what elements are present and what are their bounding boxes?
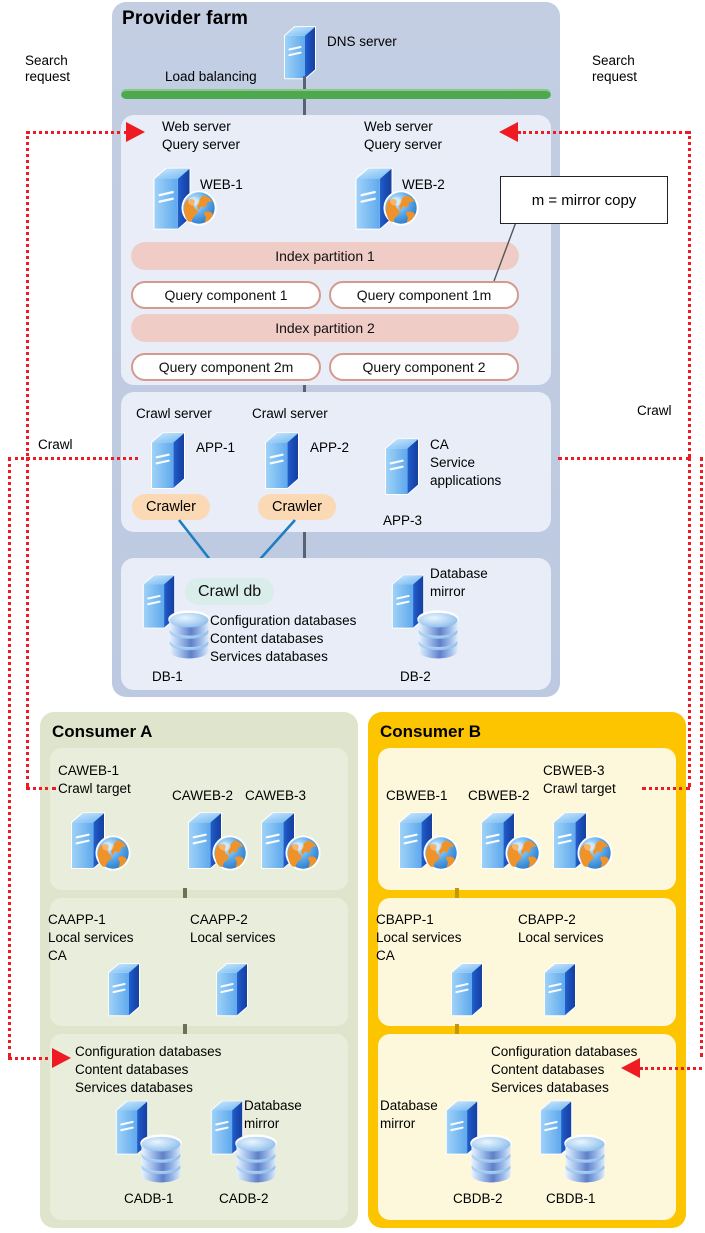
cbweb3-name: CBWEB-3 [543,763,605,779]
db1-database-line2: Content databases [210,631,323,647]
crawl-target-path-left-h [26,787,56,790]
caweb3-name: CAWEB-3 [245,788,306,804]
disk-icon-db1 [167,608,211,665]
disk-icon-db2 [416,608,460,665]
crawl-target-path-right-h [642,787,690,790]
cadb1-name: CADB-1 [124,1191,174,1207]
globe-icon-caweb2 [211,834,249,877]
db2-role-line1: Database [430,566,488,582]
db1-name: DB-1 [152,669,183,685]
cbdb-database-line1: Configuration databases [491,1044,637,1060]
cbapp1-name: CBAPP-1 [376,912,434,928]
crawl-path-left-h-bottom [8,1057,56,1060]
cadb2-role-line1: Database [244,1098,302,1114]
cbdb-database-line3: Services databases [491,1080,609,1096]
disk-icon-cbdb2 [469,1132,513,1189]
server-icon-caapp2 [213,959,251,1024]
cbdb-database-line2: Content databases [491,1062,604,1078]
caweb1-role: Crawl target [58,781,131,797]
cadb-database-line3: Services databases [75,1080,193,1096]
server-icon-caapp1 [105,959,143,1024]
disk-icon-cadb2 [234,1132,278,1189]
server-icon-cbapp2 [541,959,579,1024]
caweb1-name: CAWEB-1 [58,763,119,779]
search-request-path-right-h [518,131,688,134]
server-icon-cbapp1 [448,959,486,1024]
cbapp1-role-line2: CA [376,948,395,964]
globe-icon-cbweb1 [422,834,460,877]
cbdb1-name: CBDB-1 [546,1191,596,1207]
caapp1-role-line1: Local services [48,930,134,946]
search-request-label-right: Search request [592,53,637,84]
globe-icon-cbweb3 [576,834,614,877]
caweb2-name: CAWEB-2 [172,788,233,804]
cbdb2-role-line1: Database [380,1098,438,1114]
crawl-arrow-to-consumer-a-db [52,1048,71,1068]
crawl-path-left-v [8,457,11,1057]
caapp1-role-line2: CA [48,948,67,964]
crawl-path-right-v [700,457,703,1057]
search-request-label-left: Search request [25,53,70,84]
globe-icon-caweb1 [94,834,132,877]
db1-database-line1: Configuration databases [210,613,356,629]
crawl-arrow-to-consumer-b-db [621,1058,640,1078]
search-request-arrow-left [126,122,145,142]
search-request-path-right-v [688,131,691,457]
db2-role-line2: mirror [430,584,465,600]
search-request-path-left-v [26,131,29,456]
crawl-target-path-right-v [688,457,691,787]
cbweb3-role: Crawl target [543,781,616,797]
cbweb2-name: CBWEB-2 [468,788,530,804]
db2-name: DB-2 [400,669,431,685]
crawl-target-path-left-v [26,457,29,787]
caapp2-name: CAAPP-2 [190,912,248,928]
cadb2-name: CADB-2 [219,1191,269,1207]
crawl-label-left: Crawl [38,437,73,453]
caapp2-role-line1: Local services [190,930,276,946]
app-to-db-connector [303,532,306,558]
cbweb1-name: CBWEB-1 [386,788,448,804]
db1-database-line3: Services databases [210,649,328,665]
globe-icon-cbweb2 [504,834,542,877]
consumer-b-title: Consumer B [380,722,481,742]
cadb-database-line1: Configuration databases [75,1044,221,1060]
cbapp2-role-line1: Local services [518,930,604,946]
crawl-label-right: Crawl [637,403,672,419]
cadb2-role-line2: mirror [244,1116,279,1132]
search-request-path-left-h [26,131,128,134]
globe-icon-caweb3 [284,834,322,877]
search-request-arrow-right [499,122,518,142]
cbdb2-name: CBDB-2 [453,1191,503,1207]
disk-icon-cbdb1 [563,1132,607,1189]
caapp1-name: CAAPP-1 [48,912,106,928]
crawl-path-right-h-bottom [640,1067,702,1070]
cadb-database-line2: Content databases [75,1062,188,1078]
cbapp2-name: CBAPP-2 [518,912,576,928]
crawl-db-pill: Crawl db [185,578,274,605]
crawl-path-right-h-top [558,457,690,460]
cbapp1-role-line1: Local services [376,930,462,946]
consumer-a-title: Consumer A [52,722,152,742]
disk-icon-cadb1 [139,1132,183,1189]
cbdb2-role-line2: mirror [380,1116,415,1132]
